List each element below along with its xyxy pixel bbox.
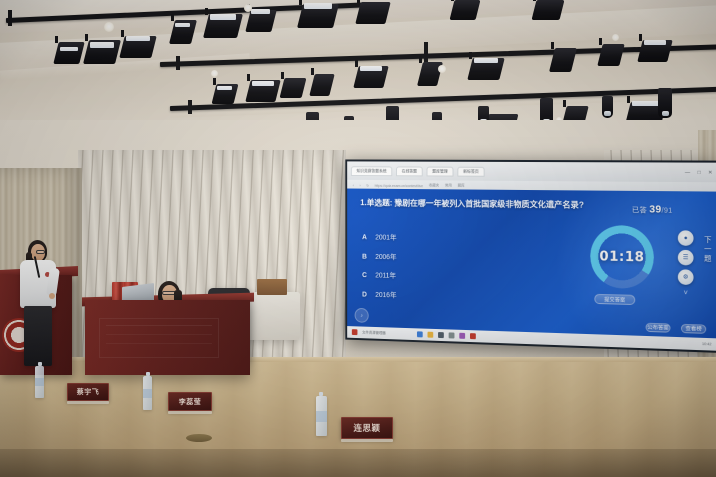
- address-bar[interactable]: https://quiz.exam.cn/contest/live: [375, 183, 423, 187]
- volume-icon[interactable]: ♪: [355, 308, 369, 323]
- settings-icon[interactable]: ⚙: [678, 269, 694, 285]
- browser-tab-1[interactable]: 在线答题: [396, 166, 423, 176]
- side-table: [257, 279, 287, 295]
- answer-option-b[interactable]: B 2006年: [362, 251, 396, 261]
- quiz-control-column[interactable]: ● ☰ ⚙ ˅: [678, 230, 694, 297]
- judge-desk: [85, 300, 250, 375]
- reload-icon[interactable]: ↻: [366, 183, 369, 187]
- option-label-a: A: [362, 234, 369, 241]
- option-text-b: 2006年: [375, 252, 396, 262]
- desk-front-panel: [99, 318, 219, 358]
- nameplate-text-2: 连思颖: [353, 422, 380, 434]
- water-bottle: [143, 376, 152, 410]
- bookmark-2[interactable]: 题库: [458, 184, 465, 189]
- browser-chrome: 知识竞赛答题系统 在线答题 题库管理 新标签页 — □ ✕: [347, 161, 716, 182]
- browser-tab-0[interactable]: 知识竞赛答题系统: [351, 166, 392, 176]
- truss-drop: [8, 10, 12, 26]
- nameplate-text-1: 李蕊莹: [179, 397, 202, 407]
- minimize-icon[interactable]: —: [685, 169, 690, 175]
- nameplate-2: 连思颖: [341, 417, 393, 439]
- ceiling-downlight: [612, 34, 619, 41]
- start-icon[interactable]: [352, 329, 358, 335]
- back-icon[interactable]: ‹: [353, 183, 354, 187]
- floor-shadow: [0, 449, 716, 477]
- answer-option-a[interactable]: A 2001年: [362, 232, 396, 242]
- browser-icon[interactable]: [417, 331, 423, 337]
- nameplate-base-2: [341, 439, 393, 442]
- taskbar-clock: 10:42: [702, 342, 712, 346]
- nameplate-base-1: [168, 411, 212, 414]
- truss-drop: [188, 100, 192, 114]
- quiz-app-stage: 1.单选题: 豫剧在哪一年被列入首批国家级非物质文化遗产名录? A 2001年 …: [347, 189, 716, 343]
- folder-icon[interactable]: [428, 332, 434, 338]
- mail-icon[interactable]: [438, 332, 444, 338]
- answer-option-d[interactable]: D 2016年: [362, 289, 396, 300]
- water-bottle: [316, 396, 327, 436]
- option-text-c: 2011年: [375, 271, 396, 281]
- reveal-answer-button[interactable]: 公布答案: [646, 323, 671, 333]
- chevron-down-icon[interactable]: ˅: [684, 290, 688, 297]
- close-icon[interactable]: ✕: [708, 169, 712, 175]
- window-controls[interactable]: — □ ✕: [685, 169, 713, 175]
- ceiling-downlight: [438, 65, 446, 73]
- auditorium-scene: 知识竞赛答题系统 在线答题 题库管理 新标签页 — □ ✕ ‹ › ↻ http…: [0, 0, 716, 477]
- truss-drop: [176, 56, 180, 70]
- forward-icon[interactable]: ›: [360, 183, 361, 187]
- option-label-d: D: [362, 291, 369, 298]
- ashtray: [186, 434, 212, 442]
- answered-total: /91: [662, 208, 673, 215]
- moving-head-light: [602, 96, 613, 118]
- timer-value: 01:18: [590, 225, 654, 289]
- option-text-a: 2001年: [375, 233, 396, 243]
- speaker-hand: [49, 293, 55, 299]
- taskbar-label-explorer[interactable]: 文件资源管理器: [362, 330, 386, 336]
- ceiling-downlight: [244, 4, 252, 12]
- nameplate-0: 蔡宇飞: [67, 383, 109, 401]
- submit-answer-button[interactable]: 提交答案: [594, 294, 635, 305]
- settings-icon[interactable]: [449, 332, 455, 338]
- network-icon[interactable]: [459, 333, 465, 339]
- answer-option-c[interactable]: C 2011年: [362, 270, 396, 281]
- answered-counter: 已答 39/91: [632, 204, 673, 216]
- browser-tab-3[interactable]: 新标签页: [457, 166, 484, 176]
- nameplate-base-0: [67, 401, 109, 404]
- option-text-d: 2016年: [375, 290, 396, 300]
- bookmark-1[interactable]: 常用: [445, 183, 452, 188]
- ceiling-downlight: [211, 70, 218, 77]
- leaderboard-button[interactable]: 查看榜: [681, 324, 706, 334]
- user-icon[interactable]: ●: [678, 230, 694, 246]
- option-label-b: B: [362, 253, 369, 260]
- option-label-c: C: [362, 272, 369, 279]
- question-text: 1.单选题: 豫剧在哪一年被列入首批国家级非物质文化遗产名录?: [360, 197, 617, 212]
- answer-options-list: A 2001年 B 2006年 C 2011年 D 2016年: [362, 232, 396, 309]
- browser-tab-2[interactable]: 题库管理: [427, 166, 454, 176]
- list-icon[interactable]: ☰: [678, 250, 694, 266]
- nameplate-1: 李蕊莹: [168, 392, 212, 411]
- bookmark-0[interactable]: 收藏夹: [429, 183, 439, 188]
- next-question-button[interactable]: 下一题: [703, 237, 713, 264]
- moving-head-light: [658, 88, 672, 118]
- speaker-lower-body: [24, 306, 52, 366]
- led-display-screen[interactable]: 知识竞赛答题系统 在线答题 题库管理 新标签页 — □ ✕ ‹ › ↻ http…: [345, 159, 716, 352]
- water-bottle: [35, 366, 44, 398]
- nameplate-text-0: 蔡宇飞: [77, 387, 100, 397]
- app-icon[interactable]: [470, 333, 476, 339]
- answered-label: 已答: [632, 207, 647, 214]
- answered-count: 39: [649, 204, 661, 215]
- speaker-glasses: [36, 250, 45, 254]
- ceiling-downlight: [104, 22, 114, 32]
- maximize-icon[interactable]: □: [698, 169, 701, 175]
- countdown-timer: 01:18: [590, 225, 654, 289]
